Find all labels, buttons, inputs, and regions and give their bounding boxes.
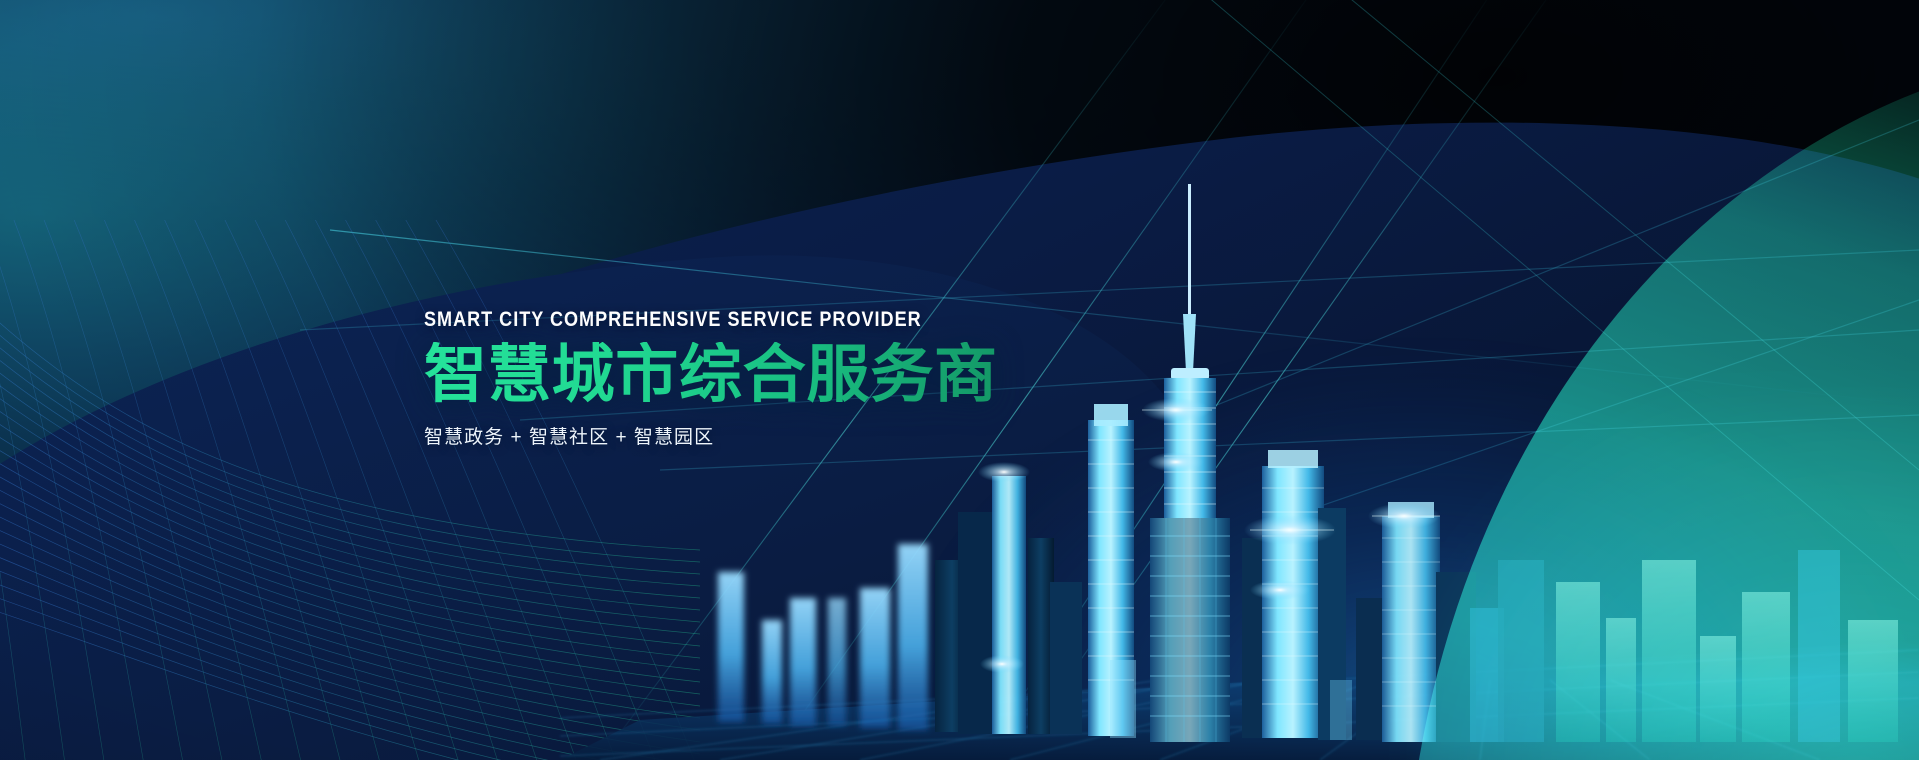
hero-copy-block: SMART CITY COMPREHENSIVE SERVICE PROVIDE… (424, 308, 1184, 449)
subtitle-services: 智慧政务 + 智慧社区 + 智慧园区 (424, 422, 1184, 449)
smart-city-hero-banner: SMART CITY COMPREHENSIVE SERVICE PROVIDE… (0, 0, 1919, 760)
eyebrow-tagline: SMART CITY COMPREHENSIVE SERVICE PROVIDE… (424, 308, 1078, 331)
page-title: 智慧城市综合服务商 (424, 342, 1184, 408)
